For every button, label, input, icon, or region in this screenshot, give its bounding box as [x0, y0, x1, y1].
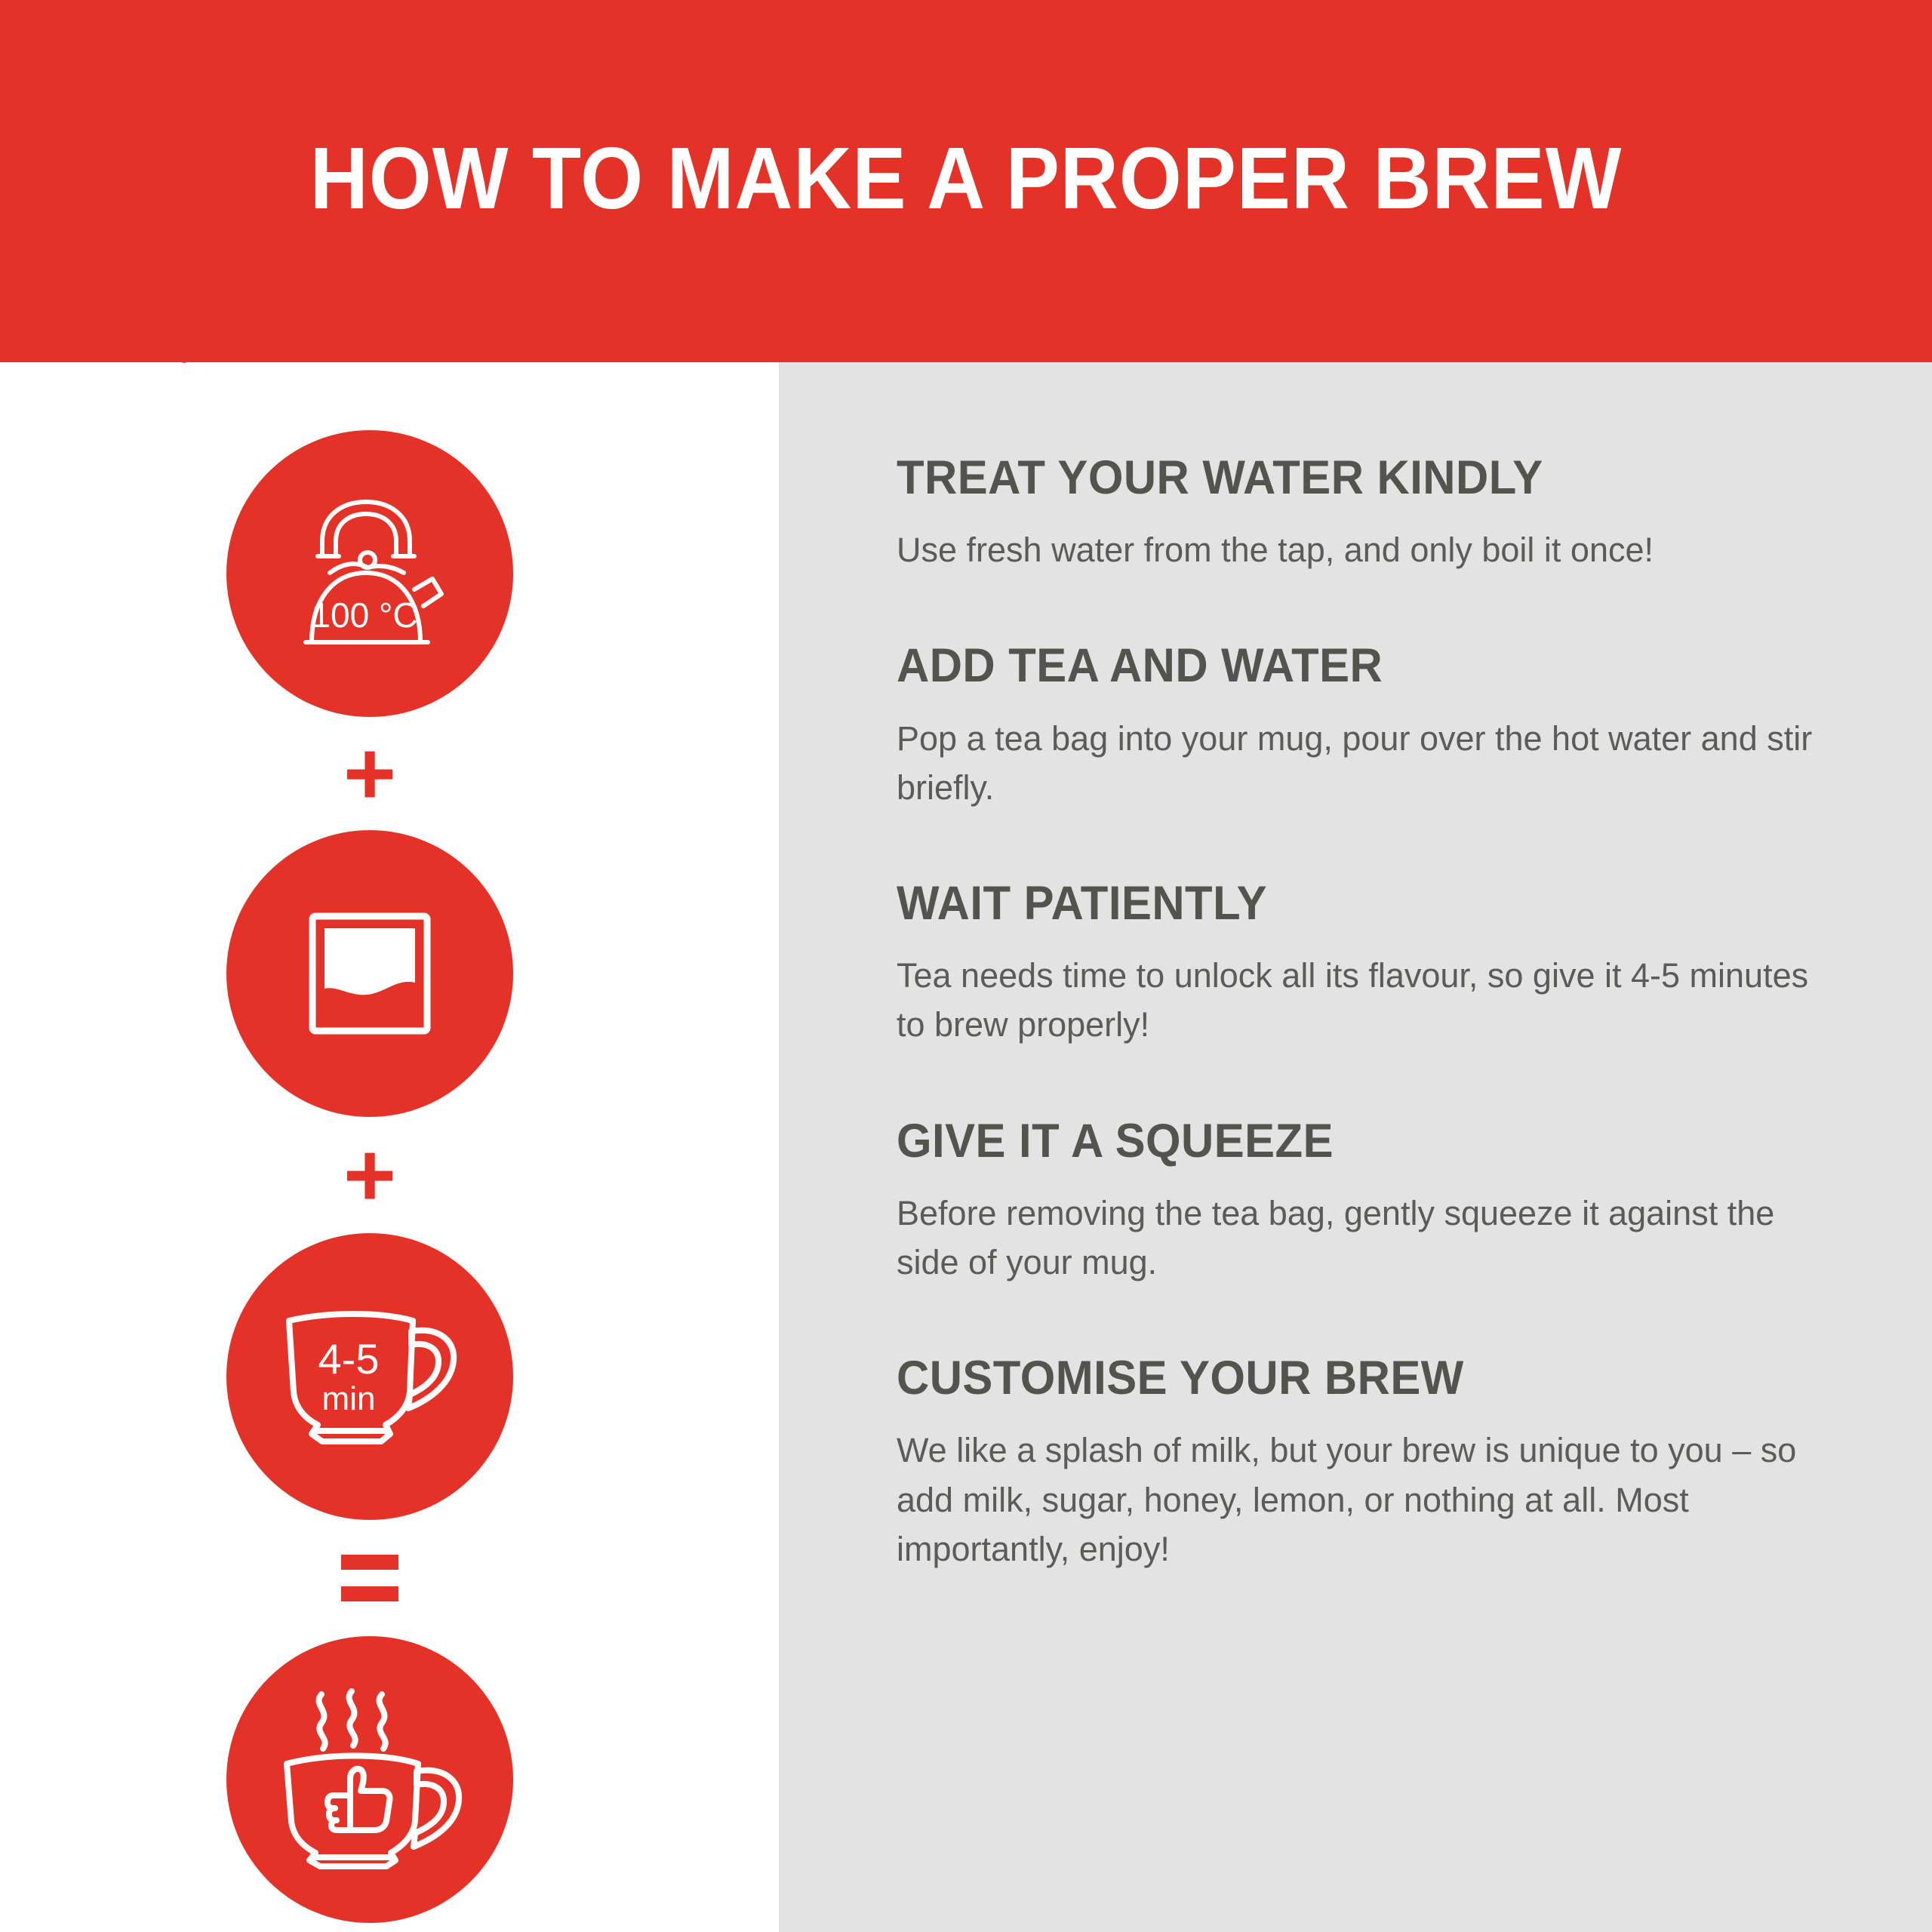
icon-circle-teacup-timer: 4-5 min — [226, 1233, 513, 1520]
brew-time-unit-label: min — [322, 1380, 376, 1417]
step-title: GIVE IT A SQUEEZE — [897, 1116, 1786, 1166]
equals-bar-top — [341, 1555, 398, 1570]
step-item: TREAT YOUR WATER KINDLY Use fresh water … — [897, 453, 1832, 574]
step-item: GIVE IT A SQUEEZE Before removing the te… — [897, 1116, 1832, 1287]
equals-bar-bottom — [341, 1586, 398, 1601]
teacup-timer-icon: 4-5 min — [275, 1301, 464, 1452]
brew-time-value-label: 4-5 — [318, 1335, 380, 1383]
icon-circle-steaming-mug — [226, 1636, 513, 1923]
step-body: Before removing the tea bag, gently sque… — [897, 1189, 1825, 1287]
operator-plus-2: + — [226, 1126, 513, 1224]
icon-circle-tea-bag — [226, 830, 513, 1117]
operator-equals — [226, 1529, 513, 1627]
tea-bag-icon — [302, 906, 438, 1041]
kettle-icon: 100 °C — [283, 494, 457, 653]
steps-list: TREAT YOUR WATER KINDLY Use fresh water … — [897, 453, 1832, 1574]
step-item: WAIT PATIENTLY Tea needs time to unlock … — [897, 878, 1832, 1050]
infographic-page: HOW TO MAKE A PROPER BREW — [0, 0, 1932, 1932]
step-body: Tea needs time to unlock all its flavour… — [897, 951, 1825, 1050]
step-title: ADD TEA AND WATER — [897, 641, 1786, 691]
operator-plus-1: + — [226, 724, 513, 823]
steaming-mug-thumbs-up-icon — [272, 1685, 468, 1874]
page-title: HOW TO MAKE A PROPER BREW — [77, 134, 1854, 222]
step-title: CUSTOMISE YOUR BREW — [897, 1353, 1786, 1403]
step-body: Pop a tea bag into your mug, pour over t… — [897, 714, 1825, 813]
step-title: WAIT PATIENTLY — [897, 878, 1786, 928]
header-banner: HOW TO MAKE A PROPER BREW — [0, 0, 1932, 362]
kettle-temperature-label: 100 °C — [311, 595, 417, 635]
step-body: Use fresh water from the tap, and only b… — [897, 525, 1825, 574]
step-item: ADD TEA AND WATER Pop a tea bag into you… — [897, 641, 1832, 812]
torn-paper-edge-decoration — [0, 334, 1932, 364]
icon-circle-kettle: 100 °C — [226, 430, 513, 717]
icon-rail: 100 °C + + — [226, 430, 528, 1923]
step-item: CUSTOMISE YOUR BREW We like a splash of … — [897, 1353, 1832, 1574]
step-body: We like a splash of milk, but your brew … — [897, 1426, 1825, 1574]
step-title: TREAT YOUR WATER KINDLY — [897, 453, 1786, 503]
